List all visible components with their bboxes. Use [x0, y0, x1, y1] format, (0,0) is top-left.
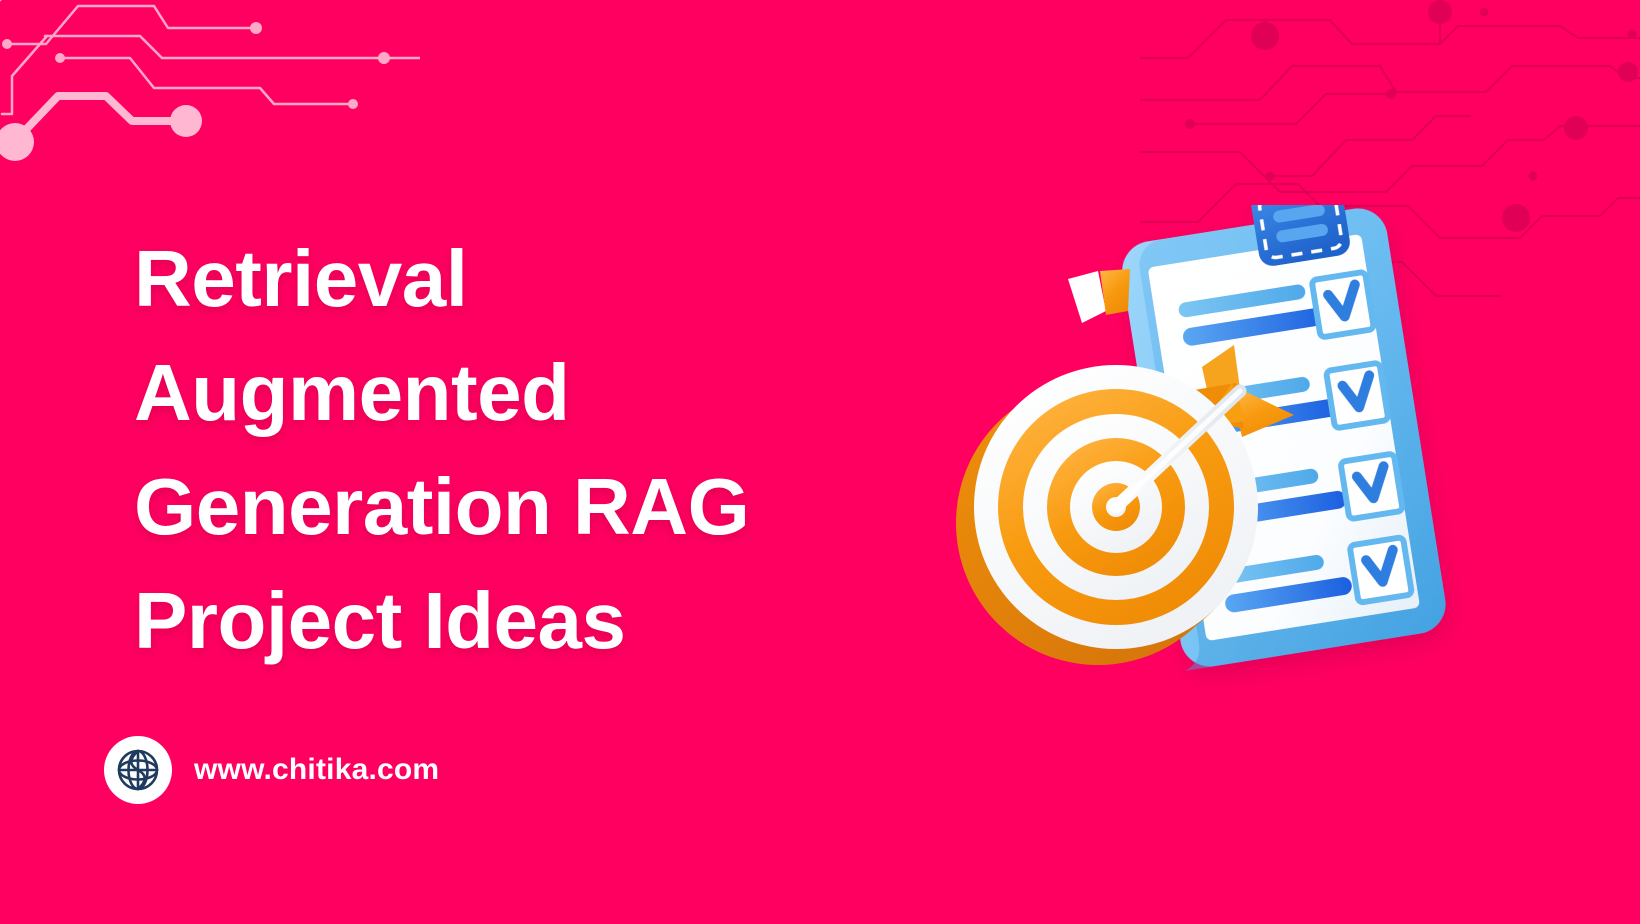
page-title: Retrieval Augmented Generation RAG Proje… — [134, 222, 914, 678]
chitika-globe-logo-icon — [104, 736, 172, 804]
clipboard-checklist-with-dart-target-illustration — [940, 205, 1480, 705]
headline-line-2: Augmented — [134, 336, 914, 450]
headline-line-1: Retrieval — [134, 222, 914, 336]
website-url[interactable]: www.chitika.com — [194, 753, 439, 787]
promo-banner: Retrieval Augmented Generation RAG Proje… — [0, 0, 1640, 924]
headline-line-4: Project Ideas — [134, 564, 914, 678]
circuit-traces-light-icon — [0, 0, 420, 172]
confetti-pieces — [1068, 269, 1130, 323]
headline-line-3: Generation RAG — [134, 450, 914, 564]
confetti-white — [1068, 271, 1106, 323]
brand-footer: www.chitika.com — [104, 736, 439, 804]
